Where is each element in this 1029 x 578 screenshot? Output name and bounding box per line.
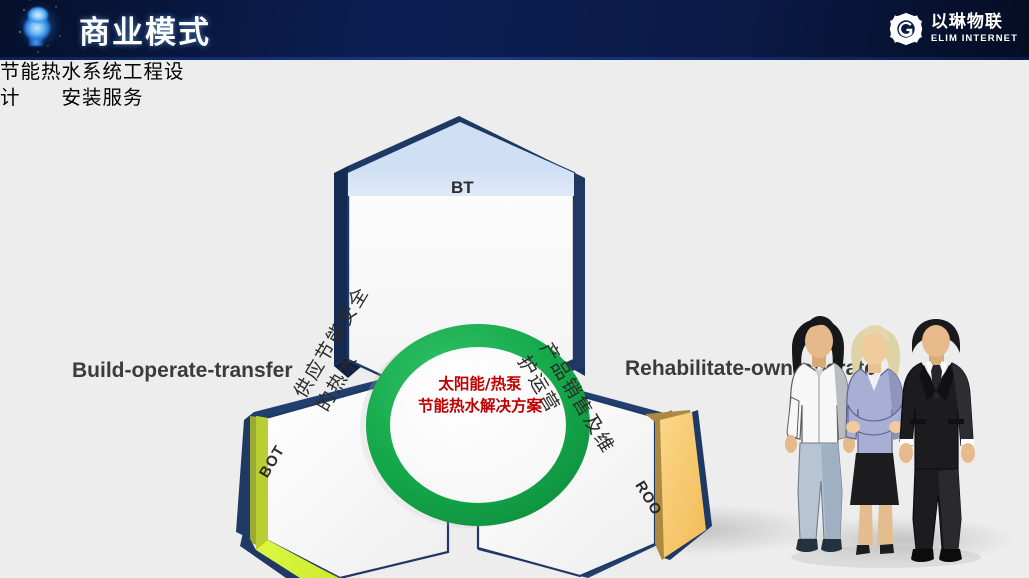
w2-hand-l <box>846 421 860 433</box>
m-hand-l <box>899 443 913 463</box>
center-line-2: 节能热水解决方案 <box>370 395 590 417</box>
people-svg <box>766 305 1006 570</box>
bt-roof-facet <box>348 122 574 173</box>
hex-code-bt: BT <box>451 178 474 198</box>
logo-name-en: ELIM INTERNET <box>931 34 1018 44</box>
w1-face <box>805 324 833 358</box>
m-hand-r <box>961 443 975 463</box>
m-face <box>922 325 950 357</box>
m-pocket-r <box>948 419 964 424</box>
slide-header: 商业模式 以琳物联 ELIM INTERNET <box>0 0 1029 57</box>
m-shoe-l <box>911 549 934 562</box>
logo-text-block: 以琳物联 ELIM INTERNET <box>931 14 1018 44</box>
three-business-people-illustration <box>766 305 1006 570</box>
w2-leg-l <box>858 505 873 547</box>
center-line-1: 太阳能/热泵 <box>370 373 590 395</box>
slide-root: 商业模式 以琳物联 ELIM INTERNET Build-transfer B… <box>0 0 1029 578</box>
fist-sparkles <box>12 0 68 56</box>
w2-face <box>861 333 887 365</box>
w1-shoe-r <box>821 539 842 552</box>
m-pocket-l <box>910 419 926 424</box>
page-title: 商业模式 <box>79 7 211 52</box>
w2-skirt <box>850 453 899 505</box>
slide-body: Build-transfer Build-operate-transfer Re… <box>0 60 1029 578</box>
bot-facet-edge <box>256 416 268 550</box>
logo-name-cn: 以琳物联 <box>931 14 1018 31</box>
w1-arm-l <box>787 397 799 439</box>
w1-shoe-l <box>796 539 818 552</box>
w2-shoe-r <box>880 544 894 554</box>
elim-g-logo-icon <box>888 11 924 47</box>
center-solution-text: 太阳能/热泵 节能热水解决方案 <box>370 373 590 417</box>
w2-leg-r <box>877 505 893 547</box>
person-woman-lavender-blazer <box>846 325 904 555</box>
m-shoe-r <box>939 549 962 562</box>
glowing-fist-icon <box>6 0 78 57</box>
person-woman-white-shirt <box>785 316 855 552</box>
person-man-black-suit <box>899 319 975 562</box>
brand-logo: 以琳物联 ELIM INTERNET <box>888 9 1018 49</box>
w1-hand-l <box>785 435 797 453</box>
